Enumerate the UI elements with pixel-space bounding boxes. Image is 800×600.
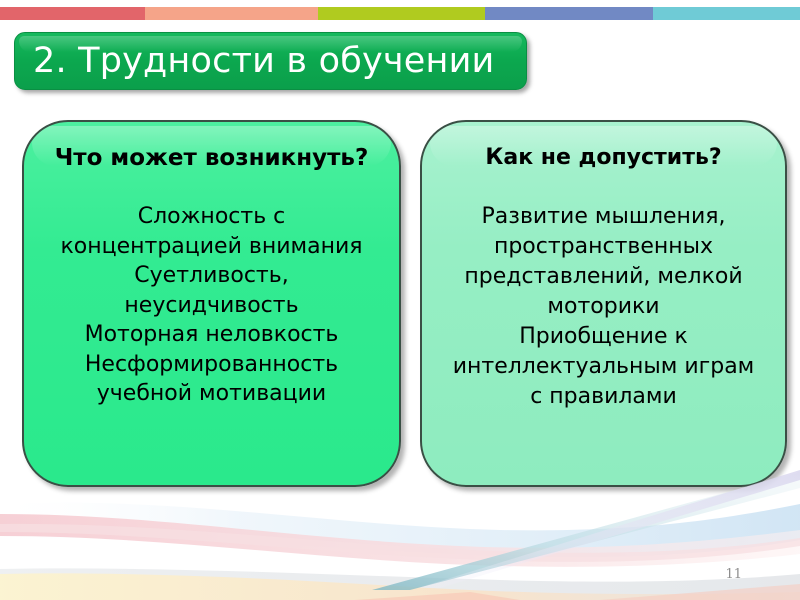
swoosh-lavender-diagonal [418,470,800,588]
left-box-header: Что может возникнуть? [38,144,385,172]
swoosh-grey [0,568,800,600]
slide-title-banner: 2. Трудности в обучении [14,32,527,90]
left-box-line: неусидчивость [40,291,383,321]
right-box-spacer [436,182,771,202]
right-box-line: Приобщение к [438,322,769,352]
page-title: 2. Трудности в обучении [15,42,494,80]
left-box-line: Моторная неловкость [40,320,383,350]
left-box-line: Суетливость, [40,261,383,291]
ribbon-segment-red [0,7,145,20]
swoosh-pink [0,514,800,567]
right-box-line: представлений, мелкой [438,262,769,292]
top-color-ribbon [0,7,800,20]
left-box-line: концентрацией внимания [40,232,383,262]
left-box-line: Сложность с [40,202,383,232]
swoosh-pink-thin [0,524,800,562]
ribbon-segment-salmon [145,7,318,20]
left-box-body: Сложность с концентрацией внимания Суетл… [38,202,385,409]
right-box-line: моторики [438,292,769,322]
swoosh-yellow [0,573,800,600]
swoosh-blue [0,503,800,558]
right-box-line: интеллектуальным играм [438,352,769,382]
bottom-decoration [0,470,800,600]
ribbon-segment-blue [485,7,653,20]
swoosh-peach-corner [600,584,800,600]
swoosh-peach-small [355,592,520,600]
left-box-spacer [38,182,385,202]
right-box-line: пространственных [438,232,769,262]
content-box-problems: Что может возникнуть? Сложность с концен… [22,120,401,487]
right-box-line: с правилами [438,382,769,412]
right-box-body: Развитие мышления, пространственных пред… [436,202,771,412]
slide-canvas: 2. Трудности в обучении Что может возник… [0,0,800,600]
ribbon-segment-lime [318,7,485,20]
page-number: 11 [725,567,742,582]
right-box-line: Развитие мышления, [438,202,769,232]
right-box-header: Как не допустить? [436,144,771,172]
left-box-line: учебной мотивации [40,379,383,409]
ribbon-segment-teal [653,7,800,20]
decorative-swoosh-group [0,470,800,600]
left-box-line: Несформированность [40,350,383,380]
content-box-prevention: Как не допустить? Развитие мышления, про… [420,120,787,487]
